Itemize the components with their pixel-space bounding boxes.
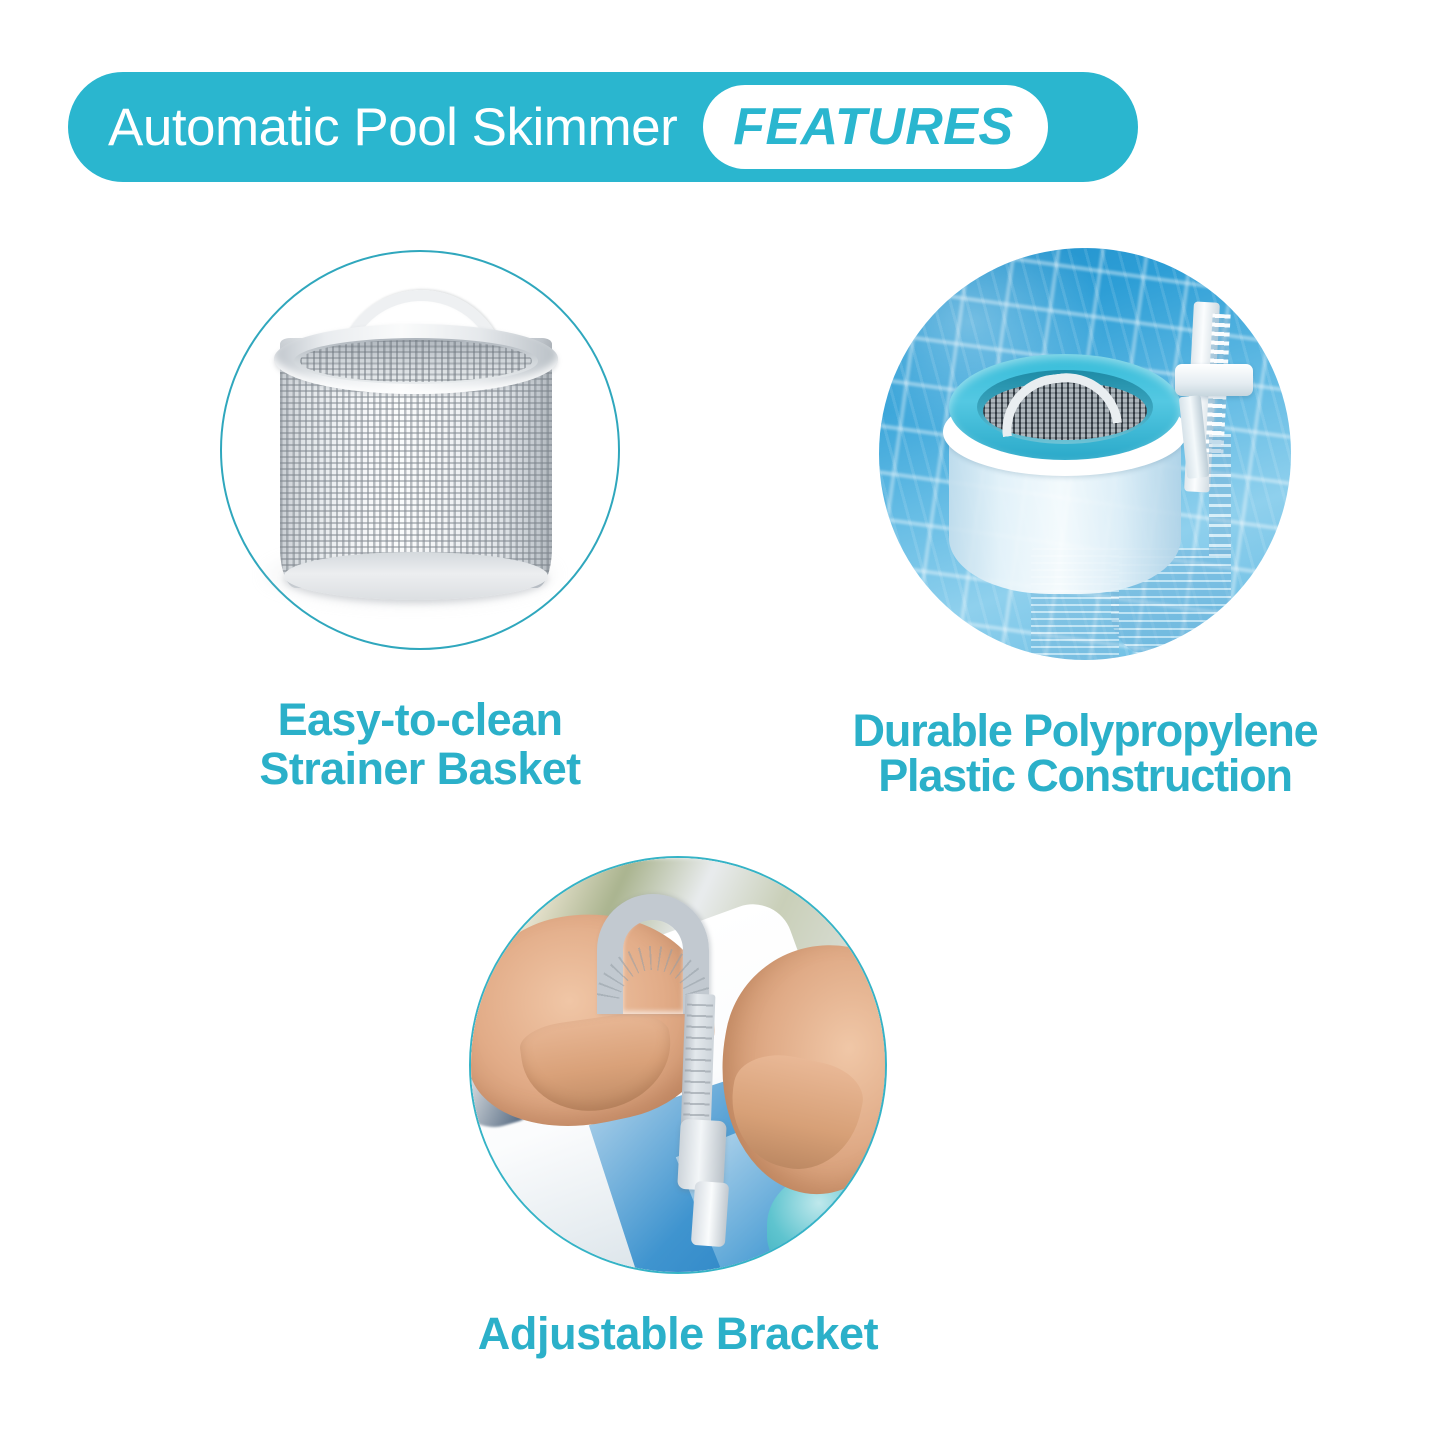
pool-skimmer-photo: [879, 248, 1291, 660]
bracket-hook-ribs: [597, 894, 709, 1004]
feature-caption-adjustable-bracket: Adjustable Bracket: [478, 1310, 878, 1359]
skimmer-bracket-clamp: [1175, 364, 1253, 396]
basket-inner-mesh: [300, 340, 532, 382]
bracket-stem-notches: [683, 1004, 713, 1127]
strainer-basket-image-circle: [220, 250, 620, 650]
feature-caption-strainer-basket: Easy-to-clean Strainer Basket: [259, 696, 580, 793]
page-title: Automatic Pool Skimmer: [108, 101, 677, 154]
bracket-tip: [691, 1181, 729, 1247]
strainer-basket-illustration: [222, 252, 618, 648]
plastic-construction-image-circle: [879, 248, 1291, 660]
bracket-lower-slider: [677, 1119, 727, 1191]
feature-plastic-construction: Durable Polypropylene Plastic Constructi…: [800, 248, 1370, 798]
feature-caption-plastic-construction: Durable Polypropylene Plastic Constructi…: [853, 708, 1318, 798]
basket-base: [284, 552, 548, 600]
features-badge: FEATURES: [703, 85, 1047, 169]
header-banner: Automatic Pool Skimmer FEATURES: [68, 72, 1138, 182]
skimmer-bracket-rail: [1209, 434, 1231, 556]
feature-infographic-page: Automatic Pool Skimmer FEATURES Easy-to-…: [0, 0, 1445, 1445]
feature-adjustable-bracket: Adjustable Bracket: [398, 856, 958, 1359]
adjustable-bracket-image-circle: [469, 856, 887, 1274]
basket-perforation-mesh: [280, 372, 552, 580]
features-badge-label: FEATURES: [733, 101, 1013, 153]
bracket-installation-photo: [471, 858, 885, 1272]
feature-strainer-basket: Easy-to-clean Strainer Basket: [140, 250, 700, 793]
